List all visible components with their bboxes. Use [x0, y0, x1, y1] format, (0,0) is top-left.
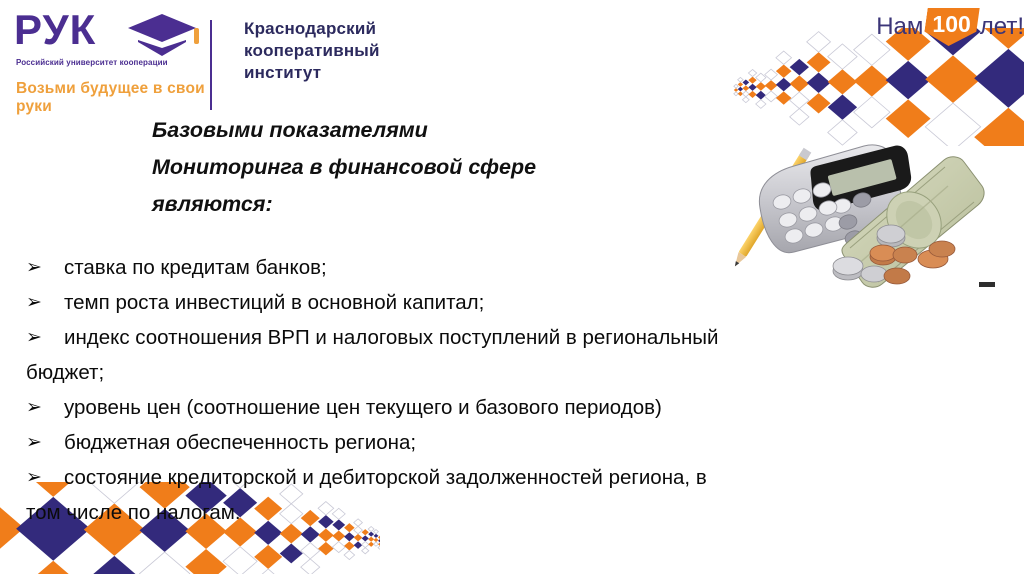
brand-subtitle: Российский университет кооперации [16, 58, 196, 68]
logo-divider [210, 20, 212, 110]
arrow-bullet-icon: ➢ [26, 390, 64, 425]
anniversary-number: 100 [933, 11, 971, 37]
list-item: ➢ индекс соотношения ВРП и налоговых пос… [26, 320, 1024, 355]
bullet-list: ➢ ставка по кредитам банков; ➢ темп рост… [26, 250, 1024, 530]
brand-acronym: РУК [14, 8, 96, 52]
list-item: ➢ темп роста инвестиций в основной капит… [26, 285, 1024, 320]
anniversary-prefix: Нам [876, 13, 923, 41]
list-item: ➢ бюджетная обеспеченность региона; [26, 425, 1024, 460]
anniversary-lockup: Нам 100 лет! [876, 10, 1024, 44]
slide-title: Базовыми показателями Мониторинга в фина… [152, 112, 672, 223]
list-item-wrap: том числе по налогам. [26, 495, 1024, 530]
list-item: ➢ состояние кредиторской и дебиторской з… [26, 460, 1024, 495]
list-item-label: бюджетная обеспеченность региона; [64, 425, 416, 460]
brand-slogan: Возьми будущее в свои руки [16, 80, 206, 116]
arrow-bullet-icon: ➢ [26, 320, 64, 355]
list-item-label: индекс соотношения ВРП и налоговых посту… [64, 320, 718, 355]
anniversary-badge: 100 [923, 8, 981, 46]
title-line-1: Базовыми показателями [152, 112, 672, 149]
arrow-bullet-icon: ➢ [26, 460, 64, 495]
graduation-cap-icon [126, 12, 202, 58]
logo-mark: РУК [14, 8, 204, 58]
list-item-wrap: бюджет; [26, 355, 1024, 390]
list-item: ➢ ставка по кредитам банков; [26, 250, 1024, 285]
slide-canvas: Нам 100 лет! РУК Российский университет … [0, 0, 1024, 574]
list-item: ➢ уровень цен (соотношение цен текущего … [26, 390, 1024, 425]
list-item-label: темп роста инвестиций в основной капитал… [64, 285, 484, 320]
arrow-bullet-icon: ➢ [26, 250, 64, 285]
institute-name: Краснодарский кооперативный институт [244, 18, 434, 84]
brand-logo-block: РУК Российский университет кооперации Во… [14, 6, 434, 108]
arrow-bullet-icon: ➢ [26, 285, 64, 320]
list-item-label: состояние кредиторской и дебиторской зад… [64, 460, 707, 495]
title-line-2: Мониторинга в финансовой сфере [152, 149, 672, 186]
list-item-label: уровень цен (соотношение цен текущего и … [64, 390, 662, 425]
list-item-label: ставка по кредитам банков; [64, 250, 327, 285]
anniversary-suffix: лет! [980, 13, 1024, 41]
arrow-bullet-icon: ➢ [26, 425, 64, 460]
title-line-3: являются: [152, 186, 672, 223]
